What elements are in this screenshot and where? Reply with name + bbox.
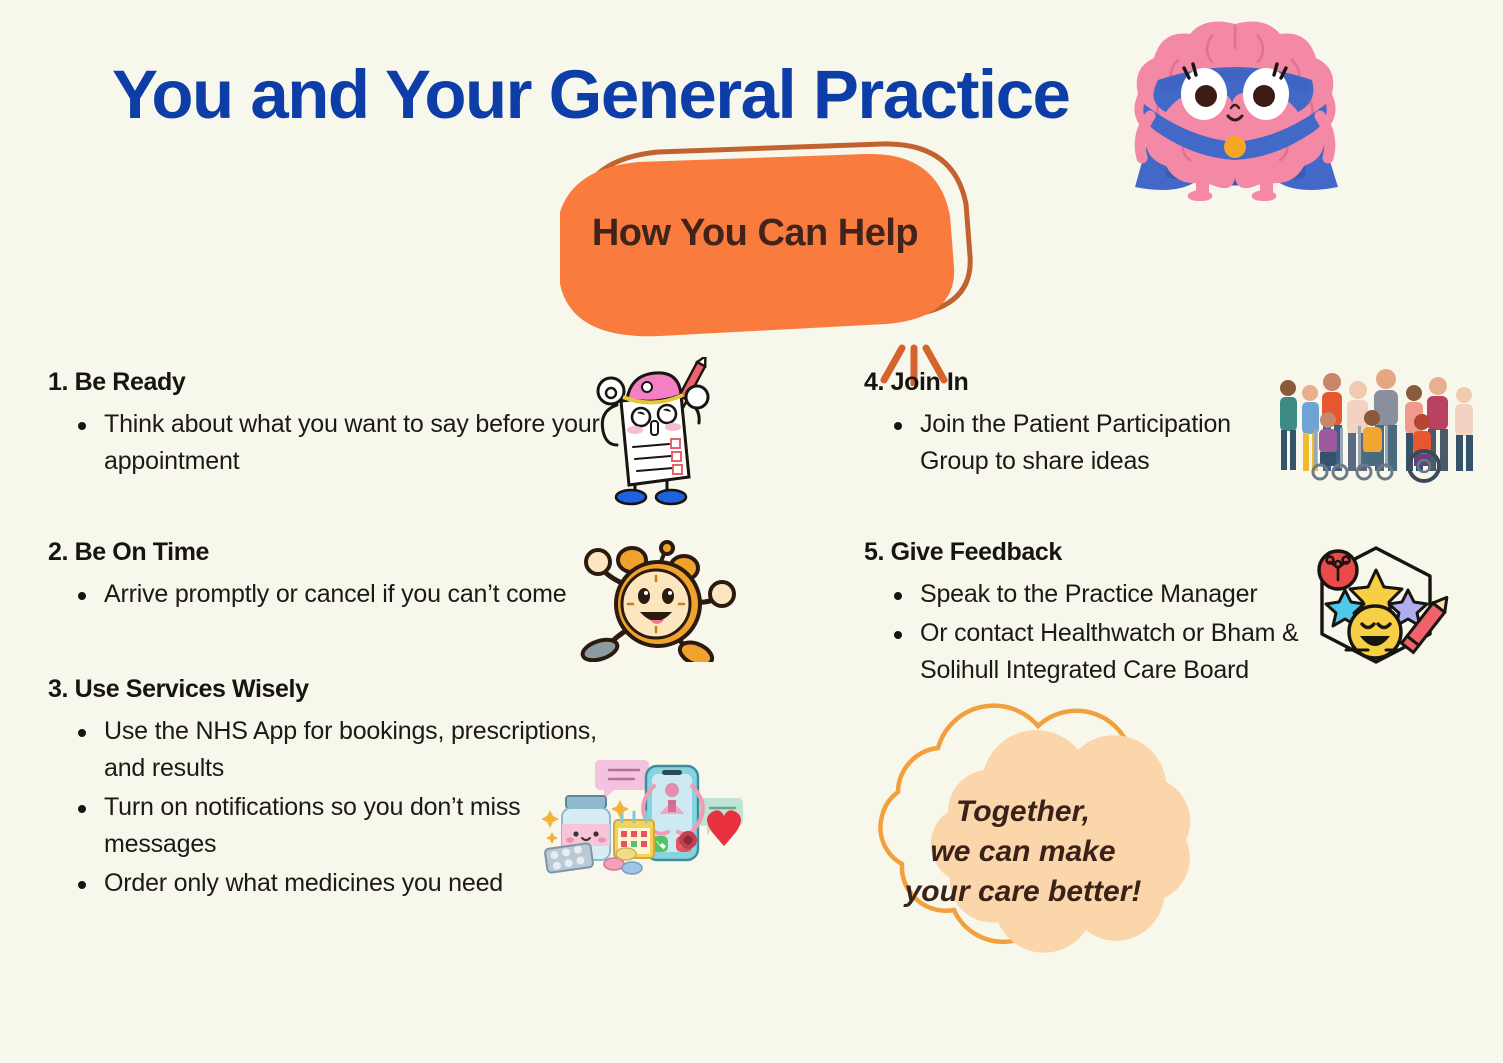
section-be-on-time: 2. Be On Time Arrive promptly or cancel … bbox=[48, 538, 608, 615]
section-heading: 4. Join In bbox=[864, 368, 1284, 397]
how-you-can-help-banner: How You Can Help bbox=[530, 138, 990, 338]
section-heading: 2. Be On Time bbox=[48, 538, 608, 567]
bullet-list: Think about what you want to say before … bbox=[70, 406, 608, 480]
feedback-stars-smiley-icon bbox=[1298, 538, 1453, 673]
section-use-services-wisely: 3. Use Services Wisely Use the NHS App f… bbox=[48, 675, 628, 904]
checklist-character-icon bbox=[575, 357, 725, 507]
telehealth-medicine-icon bbox=[542, 748, 747, 878]
section-give-feedback: 5. Give Feedback Speak to the Practice M… bbox=[864, 538, 1304, 691]
list-item: Arrive promptly or cancel if you can’t c… bbox=[70, 576, 608, 613]
list-item: Join the Patient Participation Group to … bbox=[886, 406, 1284, 480]
section-be-ready: 1. Be Ready Think about what you want to… bbox=[48, 368, 608, 482]
bullet-list: Join the Patient Participation Group to … bbox=[886, 406, 1284, 480]
list-item: Or contact Healthwatch or Bham & Solihul… bbox=[886, 615, 1304, 689]
brain-superhero-mascot-icon bbox=[1100, 12, 1370, 202]
bullet-list: Arrive promptly or cancel if you can’t c… bbox=[70, 576, 608, 613]
section-heading: 1. Be Ready bbox=[48, 368, 608, 397]
list-item: Think about what you want to say before … bbox=[70, 406, 608, 480]
bullet-list: Speak to the Practice Manager Or contact… bbox=[886, 576, 1304, 689]
page-title: You and Your General Practice bbox=[112, 55, 1069, 134]
cloud-line-2: we can make bbox=[858, 832, 1188, 872]
cloud-line-3: your care better! bbox=[858, 872, 1188, 912]
section-join-in: 4. Join In Join the Patient Participatio… bbox=[864, 368, 1284, 482]
list-item: Speak to the Practice Manager bbox=[886, 576, 1304, 613]
running-alarm-clock-icon bbox=[572, 532, 737, 662]
cloud-line-1: Together, bbox=[858, 792, 1188, 832]
section-heading: 5. Give Feedback bbox=[864, 538, 1304, 567]
banner-label: How You Can Help bbox=[530, 212, 980, 255]
infographic-canvas: You and Your General Practice bbox=[0, 0, 1503, 1063]
together-cloud-callout: Together, we can make your care better! bbox=[838, 700, 1238, 990]
cloud-message: Together, we can make your care better! bbox=[858, 792, 1188, 912]
diverse-people-group-icon bbox=[1272, 368, 1482, 483]
section-heading: 3. Use Services Wisely bbox=[48, 675, 628, 704]
